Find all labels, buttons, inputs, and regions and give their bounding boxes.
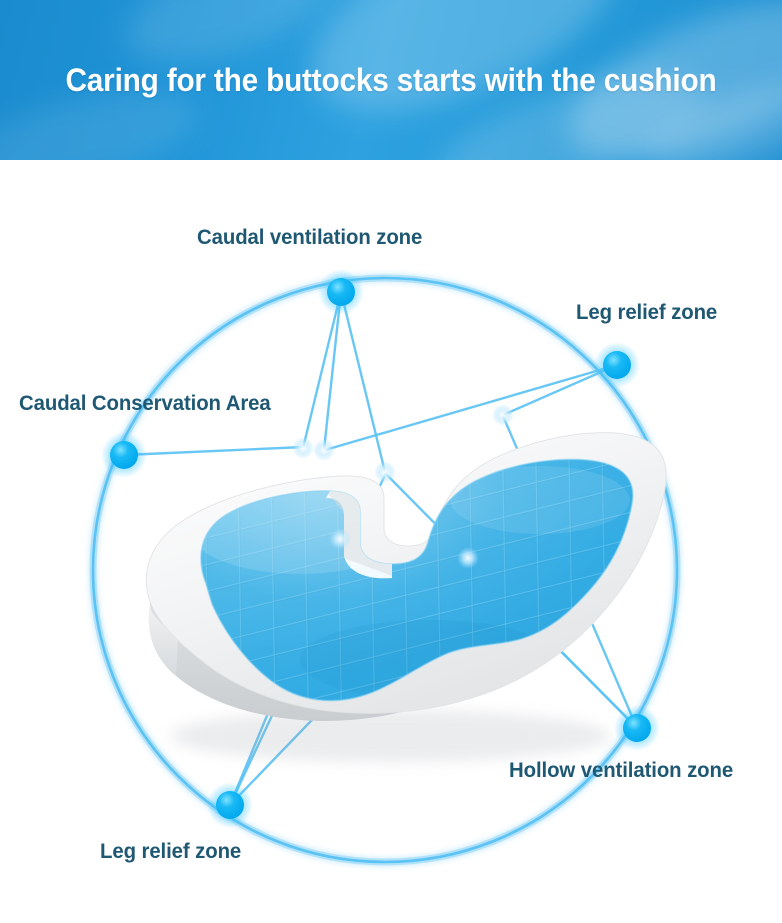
callout-dot-caudal-conservation-area[interactable] <box>101 432 147 478</box>
callout-dot-hollow-ventilation-zone[interactable] <box>614 705 660 751</box>
callout-label-caudal-conservation-area: Caudal Conservation Area <box>19 392 271 416</box>
callout-label-leg-relief-zone-bottom: Leg relief zone <box>100 840 241 864</box>
callout-dot-leg-relief-zone-bottom[interactable] <box>207 782 253 828</box>
diagram-canvas <box>0 160 782 923</box>
seat-cushion-product <box>146 433 666 762</box>
callout-label-hollow-ventilation-zone: Hollow ventilation zone <box>509 759 733 783</box>
product-diagram: Caudal ventilation zone Leg relief zone … <box>0 160 782 923</box>
page-title: Caring for the buttocks starts with the … <box>27 0 754 160</box>
callout-label-leg-relief-zone-top: Leg relief zone <box>576 301 717 325</box>
callout-dot-caudal-ventilation-zone[interactable] <box>318 269 364 315</box>
header-banner: Caring for the buttocks starts with the … <box>0 0 782 160</box>
callout-label-caudal-ventilation-zone: Caudal ventilation zone <box>197 226 422 250</box>
callout-dot-leg-relief-zone-top[interactable] <box>594 342 640 388</box>
